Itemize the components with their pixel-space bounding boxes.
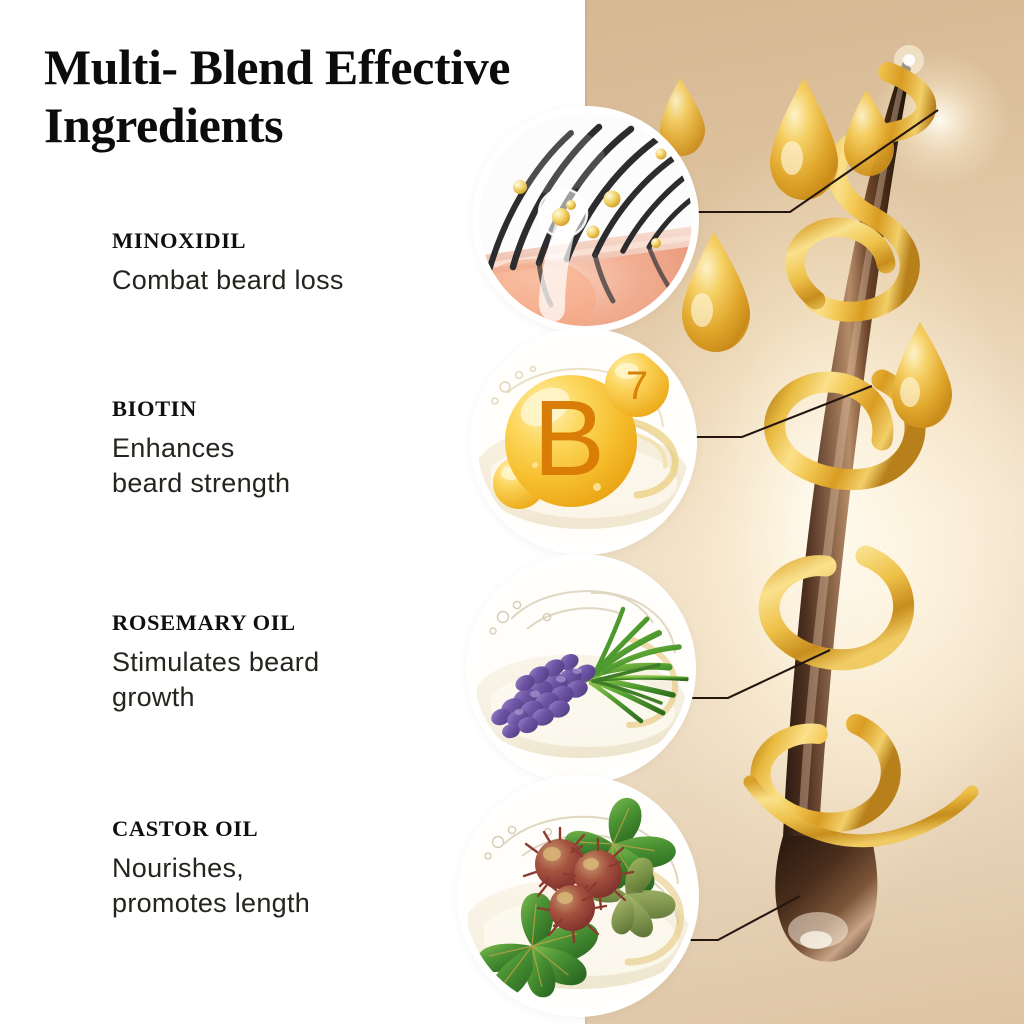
- ingredient-description: Combat beard loss: [112, 263, 442, 298]
- badge-superscript: 7: [626, 364, 648, 408]
- ingredient-name: CASTOR OIL: [112, 816, 442, 842]
- vitamin-b7-sphere-icon: 7 B: [477, 335, 690, 548]
- ingredient-description: Stimulates beard growth: [112, 645, 442, 715]
- ingredient-description: Nourishes, promotes length: [112, 851, 442, 921]
- ingredient-block-rosemary-oil: ROSEMARY OIL Stimulates beard growth: [112, 610, 442, 715]
- page-title: Multi- Blend Effective Ingredients: [44, 38, 604, 154]
- ingredient-name: BIOTIN: [112, 396, 442, 422]
- rosemary-lavender-sprig-icon: [473, 561, 689, 777]
- ingredients-infographic: 7 B: [0, 0, 1024, 1024]
- ingredient-name: ROSEMARY OIL: [112, 610, 442, 636]
- ingredient-block-castor-oil: CASTOR OIL Nourishes, promotes length: [112, 816, 442, 921]
- ingredient-block-biotin: BIOTIN Enhances beard strength: [112, 396, 442, 501]
- ingredient-description: Enhances beard strength: [112, 431, 442, 501]
- castor-bean-plant-icon: [464, 782, 692, 1010]
- badge-letter: B: [533, 377, 605, 498]
- ingredient-block-minoxidil: MINOXIDIL Combat beard loss: [112, 228, 442, 298]
- ingredient-name: MINOXIDIL: [112, 228, 442, 254]
